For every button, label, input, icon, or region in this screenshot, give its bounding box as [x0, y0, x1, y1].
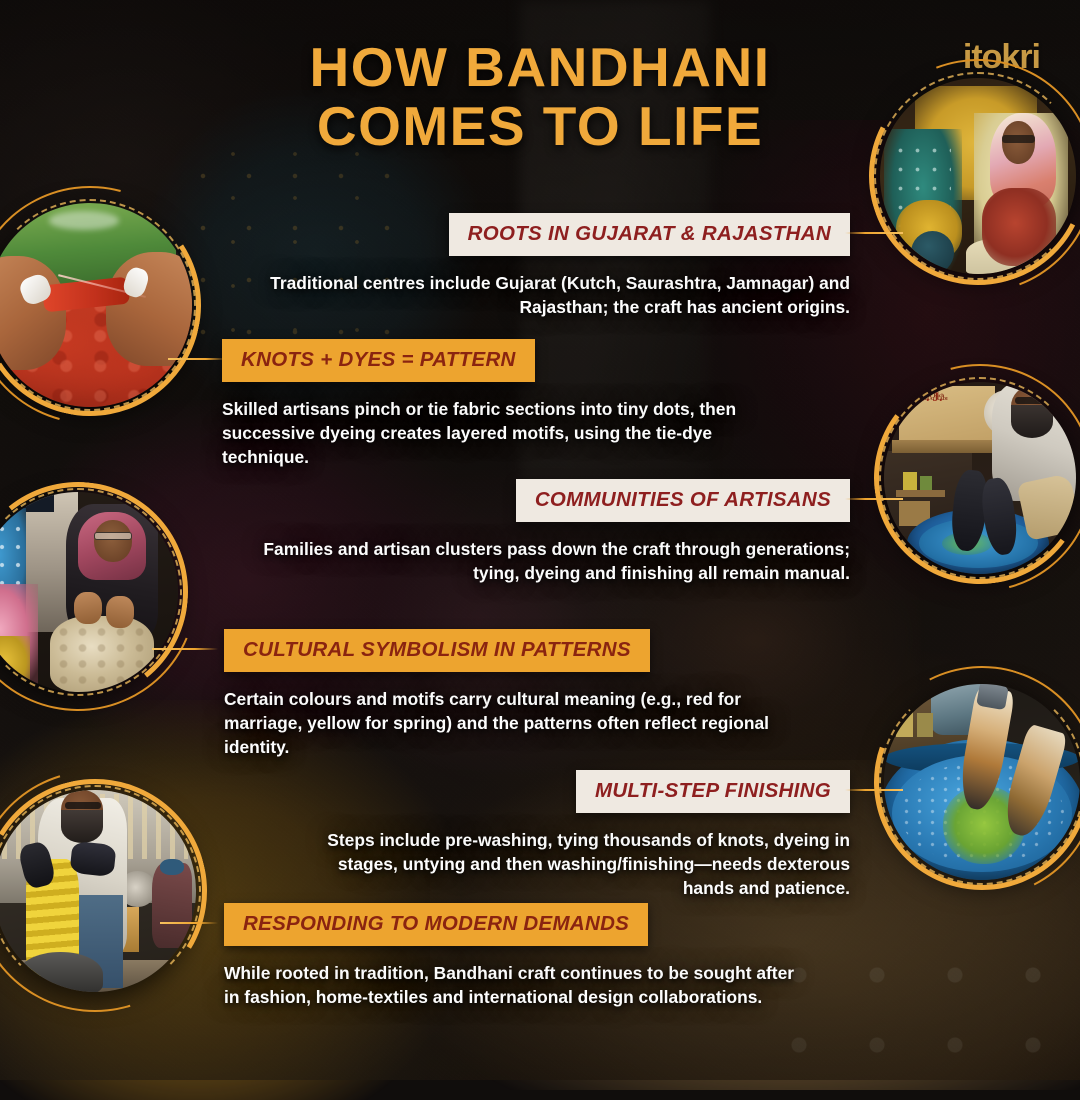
photo-medallion-bundles-in-dye — [884, 684, 1080, 880]
photo-fabric-bundles-dye-vat — [884, 684, 1080, 880]
photo-medallion-seated-artisans — [0, 492, 178, 692]
section-heading-badge[interactable]: RESPONDING TO MODERN DEMANDS — [224, 903, 648, 946]
photo-medallion-artisans-tying — [880, 78, 1076, 274]
section-body-text: Families and artisan clusters pass down … — [235, 538, 850, 586]
section-body-text: While rooted in tradition, Bandhani craf… — [224, 962, 799, 1010]
section-heading-badge[interactable]: MULTI-STEP FINISHING — [576, 770, 850, 813]
photo-medallion-dyer-blue-tub: J. J. Water Rich GUJARAT KADI — [884, 382, 1076, 574]
photo-medallion-hands-knotting — [0, 203, 192, 407]
section-body-text: Traditional centres include Gujarat (Kut… — [250, 272, 850, 320]
connector-line-3 — [845, 498, 903, 500]
connector-line-5 — [845, 789, 903, 791]
section-cultural-symbolism-in-patterns: CULTURAL SYMBOLISM IN PATTERNS Certain c… — [224, 629, 789, 760]
section-heading-badge[interactable]: KNOTS + DYES = PATTERN — [222, 339, 535, 382]
connector-line-1 — [845, 232, 903, 234]
photo-medallion-yellow-hank — [0, 790, 196, 992]
connector-line-4 — [152, 648, 218, 650]
photo-dyer-dipping-fabric: J. J. Water Rich GUJARAT KADI — [884, 382, 1076, 574]
photo-seated-women-tying — [0, 492, 178, 692]
section-heading-badge[interactable]: COMMUNITIES OF ARTISANS — [516, 479, 850, 522]
section-responding-to-modern-demands: RESPONDING TO MODERN DEMANDS While roote… — [224, 903, 799, 1010]
connector-line-6 — [160, 922, 218, 924]
connector-line-2 — [168, 358, 226, 360]
section-heading-badge[interactable]: ROOTS IN GUJARAT & RAJASTHAN — [449, 213, 850, 256]
section-multi-step-finishing: MULTI-STEP FINISHING Steps include pre-w… — [300, 770, 850, 901]
section-communities-of-artisans: COMMUNITIES OF ARTISANS Families and art… — [235, 479, 850, 586]
section-body-text: Skilled artisans pinch or tie fabric sec… — [222, 398, 767, 470]
photo-artisan-lifting-yellow-hank — [0, 790, 196, 992]
section-body-text: Certain colours and motifs carry cultura… — [224, 688, 789, 760]
photo-artisans-tying — [880, 78, 1076, 274]
section-body-text: Steps include pre-washing, tying thousan… — [300, 829, 850, 901]
signboard-line-3: GUJARAT KADI — [911, 396, 951, 401]
photo-hands-knotting-red-cloth — [0, 203, 192, 407]
section-heading-badge[interactable]: CULTURAL SYMBOLISM IN PATTERNS — [224, 629, 650, 672]
section-knots-dyes-pattern: KNOTS + DYES = PATTERN Skilled artisans … — [222, 339, 767, 470]
section-roots-in-gujarat-rajasthan: ROOTS IN GUJARAT & RAJASTHAN Traditional… — [250, 213, 850, 320]
